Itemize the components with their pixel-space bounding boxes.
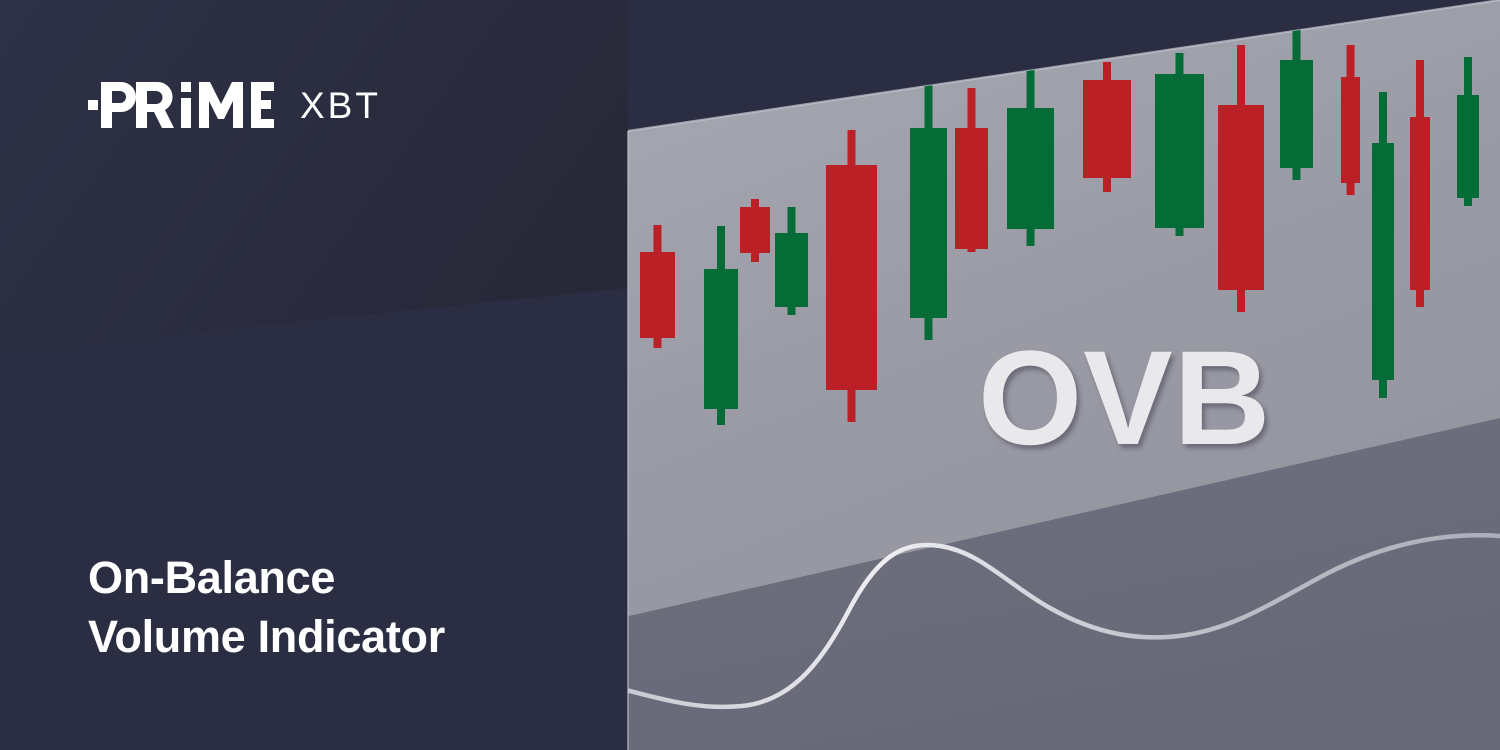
candle-body [1280,60,1313,168]
candle-body [1410,117,1430,290]
promo-banner: OVB XBT On-Balan [0,0,1500,750]
candle-body [1341,77,1360,183]
page-title: On-Balance Volume Indicator [88,548,445,667]
candle-body [1007,108,1054,229]
page-title-line-1: On-Balance [88,548,445,607]
candle-body [1457,95,1479,198]
page-title-line-2: Volume Indicator [88,607,445,666]
candle-body [1218,105,1264,290]
candlestick-9-down [1083,62,1131,192]
candlestick-5-down [826,130,877,422]
primexbt-wordmark-prime-icon [88,82,274,128]
candle-body [640,252,675,338]
candle-body [704,269,738,409]
candle-body [1083,80,1131,178]
candle-body [1155,74,1204,228]
candlestick-10-up [1155,53,1204,236]
candle-body [955,128,988,249]
candle-body [740,207,770,253]
candlestick-3-down [740,199,770,262]
primexbt-logo[interactable]: XBT [88,82,381,128]
candle-body [775,233,808,307]
candle-body [826,165,877,390]
candle-body [1372,143,1394,380]
candle-body [910,128,947,318]
primexbt-wordmark-xbt: XBT [300,87,381,124]
